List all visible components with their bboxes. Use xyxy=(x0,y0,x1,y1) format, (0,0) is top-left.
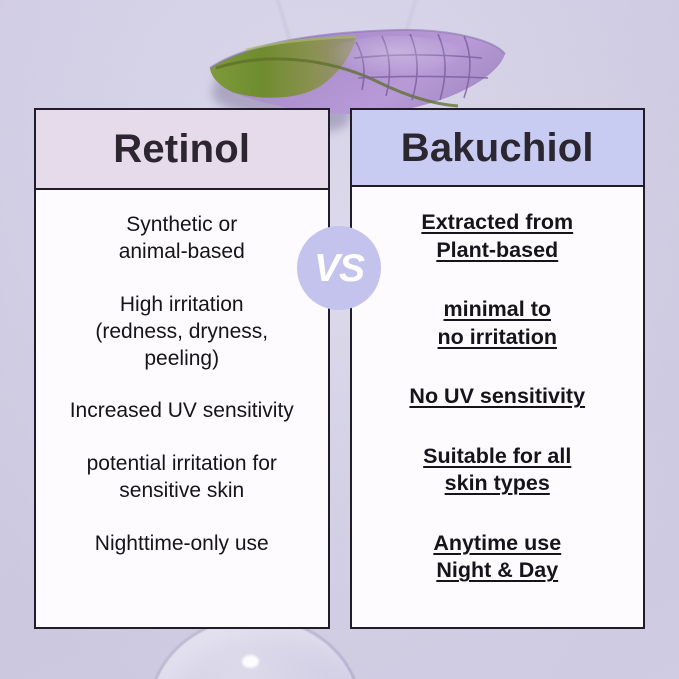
feature-line: skin types xyxy=(445,470,550,498)
droplet-highlight xyxy=(242,655,259,668)
feature-item: High irritation (redness, dryness, peeli… xyxy=(95,292,268,373)
feature-item: Extracted fromPlant-based xyxy=(421,209,573,264)
feature-item: No UV sensitivity xyxy=(409,383,585,411)
column-title-bakuchiol: Bakuchiol xyxy=(401,128,594,168)
column-bakuchiol: Bakuchiol Extracted fromPlant-based mini… xyxy=(350,108,646,629)
feature-line: Suitable for all xyxy=(423,443,571,471)
column-header-bakuchiol: Bakuchiol xyxy=(352,110,644,187)
feature-item: potential irritation for sensitive skin xyxy=(87,451,277,505)
feature-line: minimal to xyxy=(443,296,551,324)
comparison-table: Retinol Synthetic or animal-based High i… xyxy=(34,108,645,629)
feature-item: Nighttime-only use xyxy=(95,531,269,558)
column-header-retinol: Retinol xyxy=(36,110,328,190)
column-body-bakuchiol: Extracted fromPlant-based minimal tono i… xyxy=(352,187,644,627)
feature-line: Extracted from xyxy=(421,209,573,237)
feature-line: no irritation xyxy=(438,324,557,352)
column-title-retinol: Retinol xyxy=(113,129,250,169)
column-body-retinol: Synthetic or animal-based High irritatio… xyxy=(36,190,328,627)
vs-label: VS xyxy=(314,249,364,288)
feature-line: Plant-based xyxy=(436,237,558,265)
feature-line: No UV sensitivity xyxy=(409,383,585,411)
vs-badge: VS xyxy=(297,226,381,310)
infographic-canvas: Retinol Synthetic or animal-based High i… xyxy=(0,0,679,679)
feature-item: Anytime useNight & Day xyxy=(433,530,561,585)
column-retinol: Retinol Synthetic or animal-based High i… xyxy=(34,108,330,629)
feature-item: minimal tono irritation xyxy=(438,296,557,351)
feature-item: Synthetic or animal-based xyxy=(119,212,245,266)
leaf-highlight xyxy=(326,36,466,76)
feature-line: Night & Day xyxy=(436,557,558,585)
feature-item: Suitable for allskin types xyxy=(423,443,571,498)
feature-item: Increased UV sensitivity xyxy=(70,398,294,425)
feature-line: Anytime use xyxy=(433,530,561,558)
